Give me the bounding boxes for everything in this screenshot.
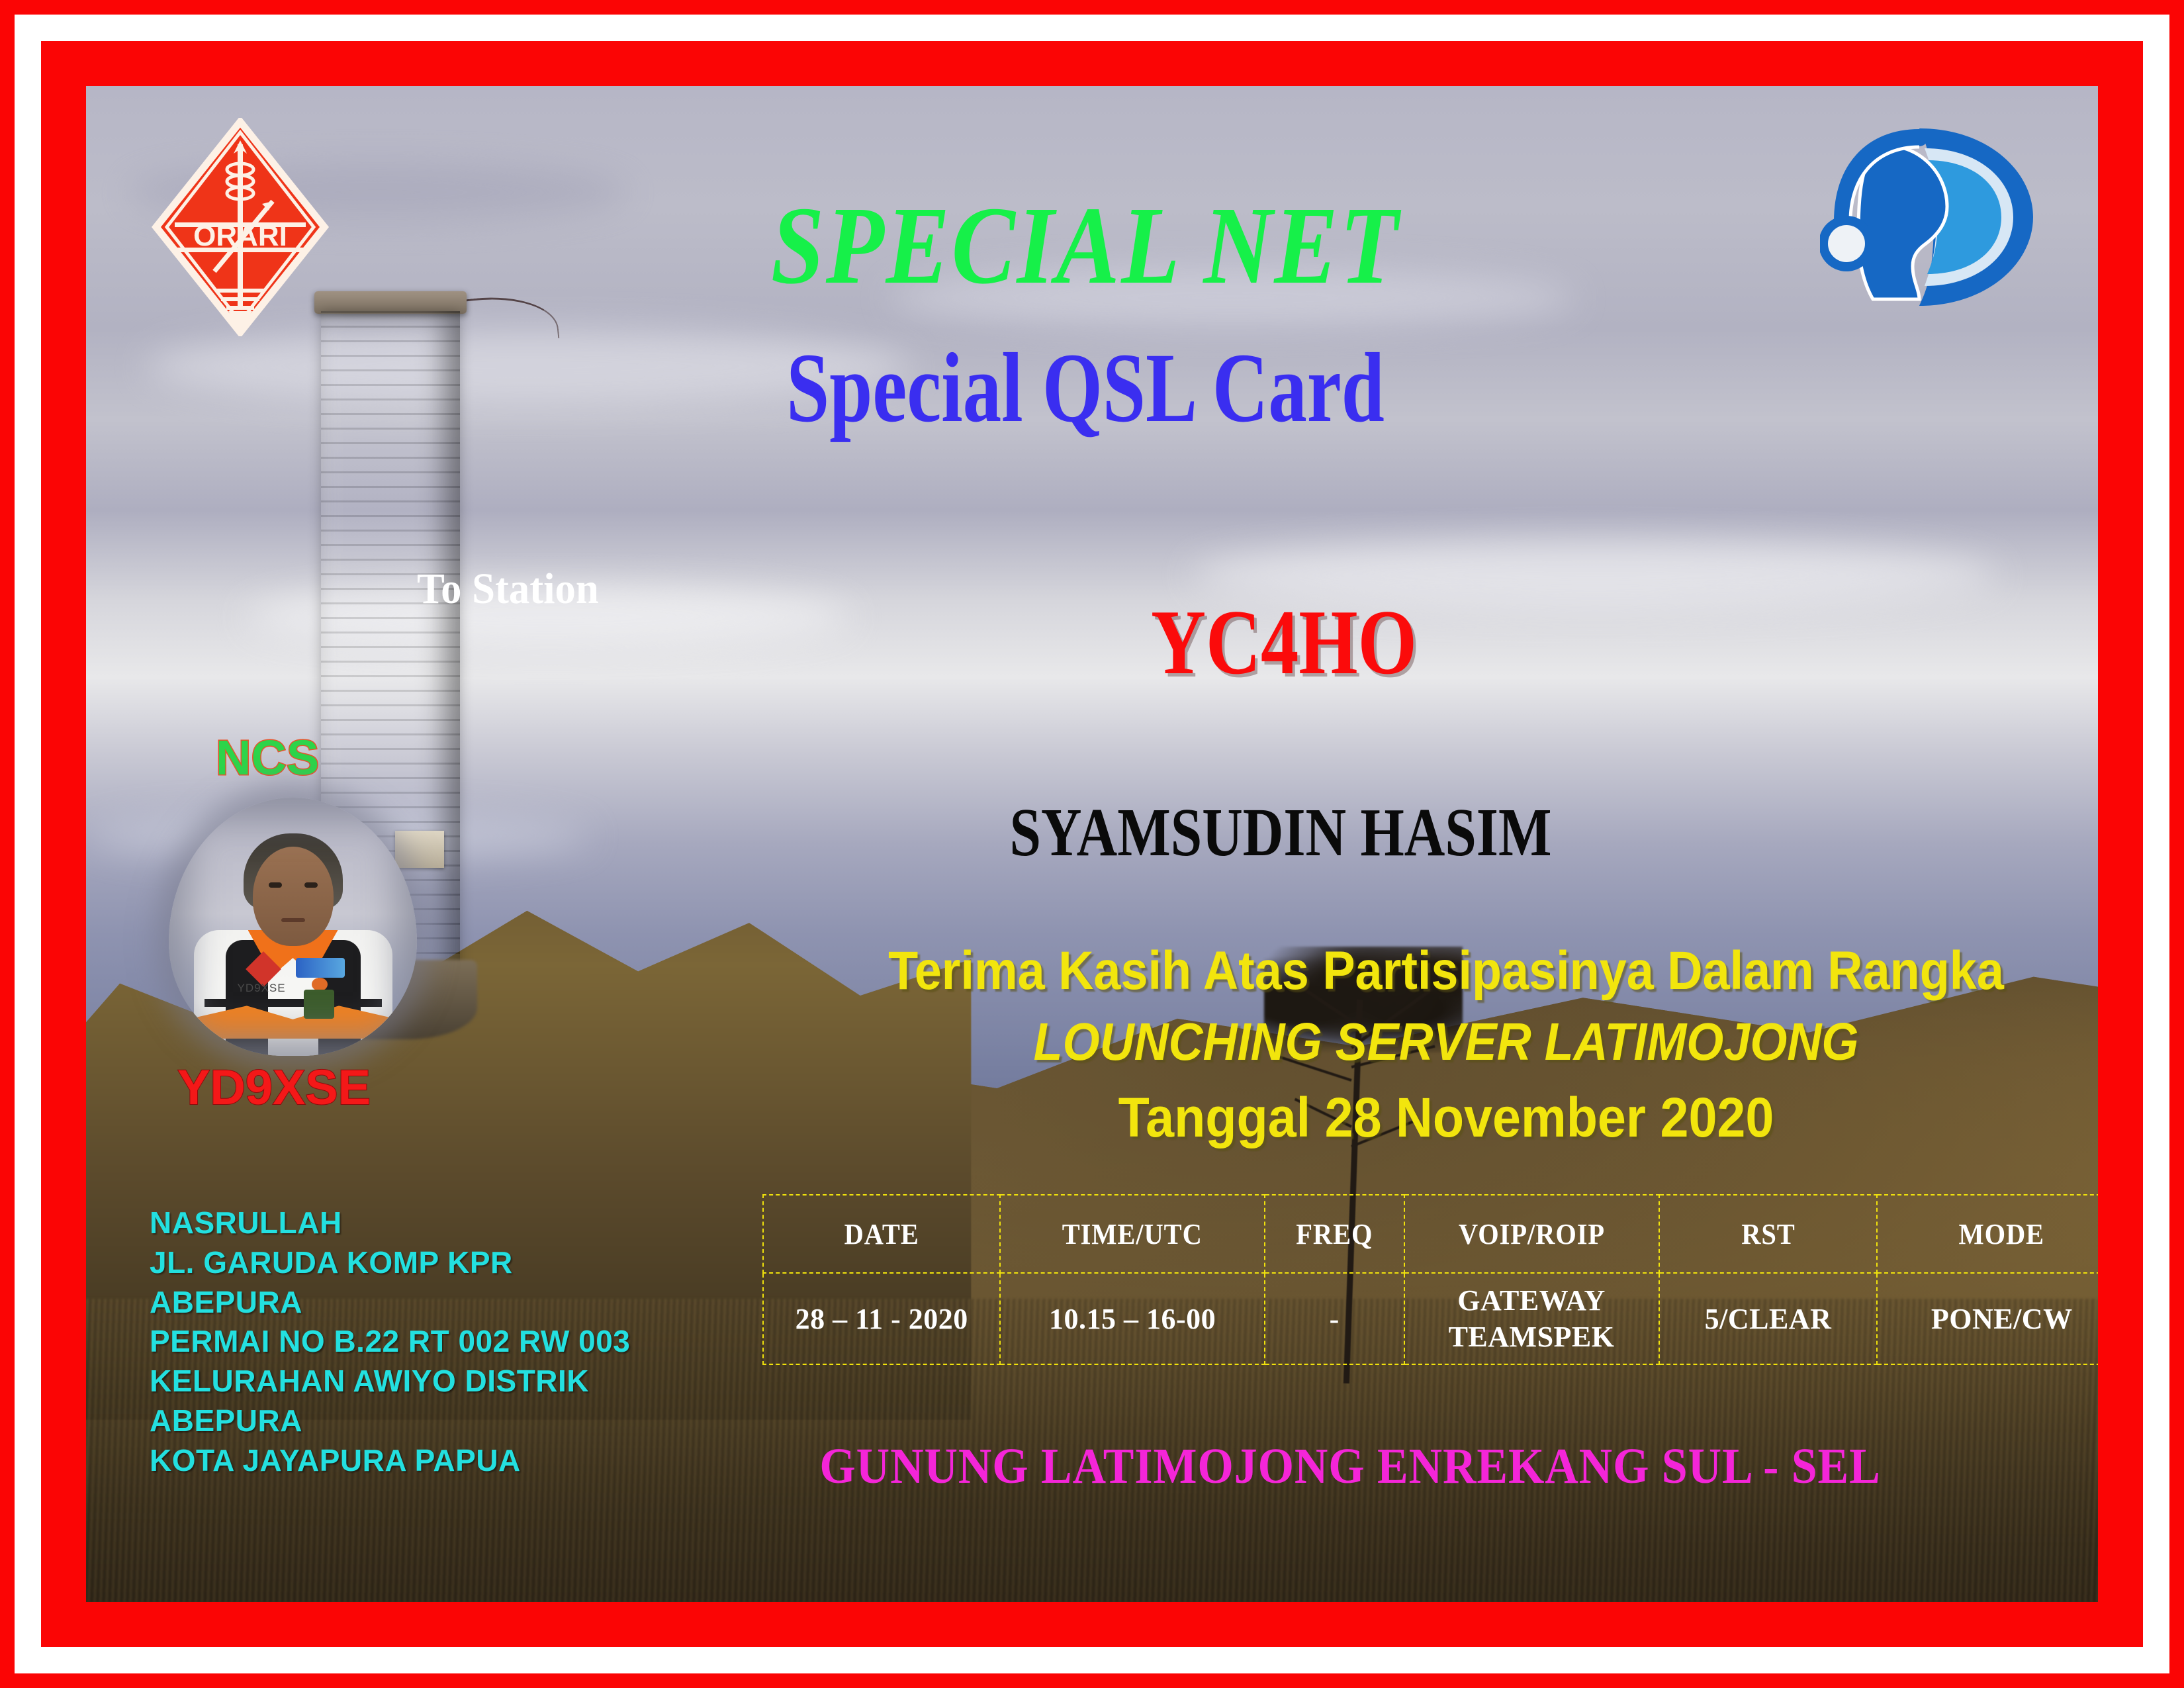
to-station-label: To Station: [417, 564, 599, 614]
column-header-time: TIME/UTC: [1011, 1195, 1253, 1273]
address-line: KOTA JAYAPURA PAPUA: [150, 1441, 630, 1481]
table-header-row: DATE TIME/UTC FREQ VOIP/ROIP RST MODE: [763, 1195, 2098, 1273]
qso-log-table: DATE TIME/UTC FREQ VOIP/ROIP RST MODE 28…: [762, 1194, 2098, 1365]
table-row: 28 – 11 - 2020 10.15 – 16-00 - GATEWAY T…: [763, 1273, 2098, 1364]
operator-avatar: YD9XSE: [169, 798, 417, 1056]
address-line: PERMAI NO B.22 RT 002 RW 003: [150, 1322, 630, 1362]
address-line: NASRULLAH: [150, 1203, 630, 1243]
ncs-callsign: YD9XSE: [177, 1059, 371, 1115]
address-line: KELURAHAN AWIYO DISTRIK: [150, 1362, 630, 1401]
cell-voip-line-2: TEAMSPEK: [1449, 1321, 1615, 1353]
column-header-freq: FREQ: [1270, 1195, 1398, 1273]
address-line: JL. GARUDA KOMP KPR: [150, 1243, 630, 1283]
station-callsign: YC4HO: [1040, 589, 1528, 696]
qsl-card-outer-border: ORARI: [0, 0, 2184, 1688]
thanks-line-1: Terima Kasih Atas Partisipasinya Dalam R…: [866, 940, 2027, 1002]
location-label: GUNUNG LATIMOJONG ENREKANG SUL - SEL: [772, 1438, 1929, 1495]
qsl-card-photo-area: ORARI: [86, 86, 2098, 1602]
cell-freq: -: [1265, 1273, 1404, 1364]
thanks-line-2: LOUNCHING SERVER LATIMOJONG: [866, 1011, 2027, 1072]
column-header-rst: RST: [1668, 1195, 1869, 1273]
cell-voip: GATEWAY TEAMSPEK: [1404, 1273, 1659, 1364]
cell-mode: PONE/CW: [1877, 1273, 2098, 1364]
thanks-message: Terima Kasih Atas Partisipasinya Dalam R…: [801, 940, 2091, 1150]
qsl-card-white-gap: ORARI: [15, 15, 2169, 1673]
mailing-address: NASRULLAH JL. GARUDA KOMP KPR ABEPURA PE…: [150, 1203, 630, 1481]
column-header-date: DATE: [772, 1195, 991, 1273]
column-header-voip: VOIP/ROIP: [1414, 1195, 1649, 1273]
page-subtitle: Special QSL Card: [306, 331, 1865, 445]
column-header-mode: MODE: [1887, 1195, 2098, 1273]
cell-time: 10.15 – 16-00: [1000, 1273, 1264, 1364]
avatar-vignette: [169, 798, 417, 1056]
operator-name: SYAMSUDIN HASIM: [942, 793, 1620, 872]
qsl-card-inner-border: ORARI: [41, 41, 2143, 1647]
cell-rst: 5/CLEAR: [1659, 1273, 1878, 1364]
ncs-label: NCS: [216, 729, 319, 786]
address-line: ABEPURA: [150, 1401, 630, 1441]
address-line: ABEPURA: [150, 1283, 630, 1323]
thanks-line-3: Tanggal 28 November 2020: [852, 1086, 2040, 1150]
cell-voip-line-1: GATEWAY: [1457, 1284, 1606, 1317]
cell-date: 28 – 11 - 2020: [763, 1273, 1000, 1364]
page-title: SPECIAL NET: [226, 182, 1944, 310]
